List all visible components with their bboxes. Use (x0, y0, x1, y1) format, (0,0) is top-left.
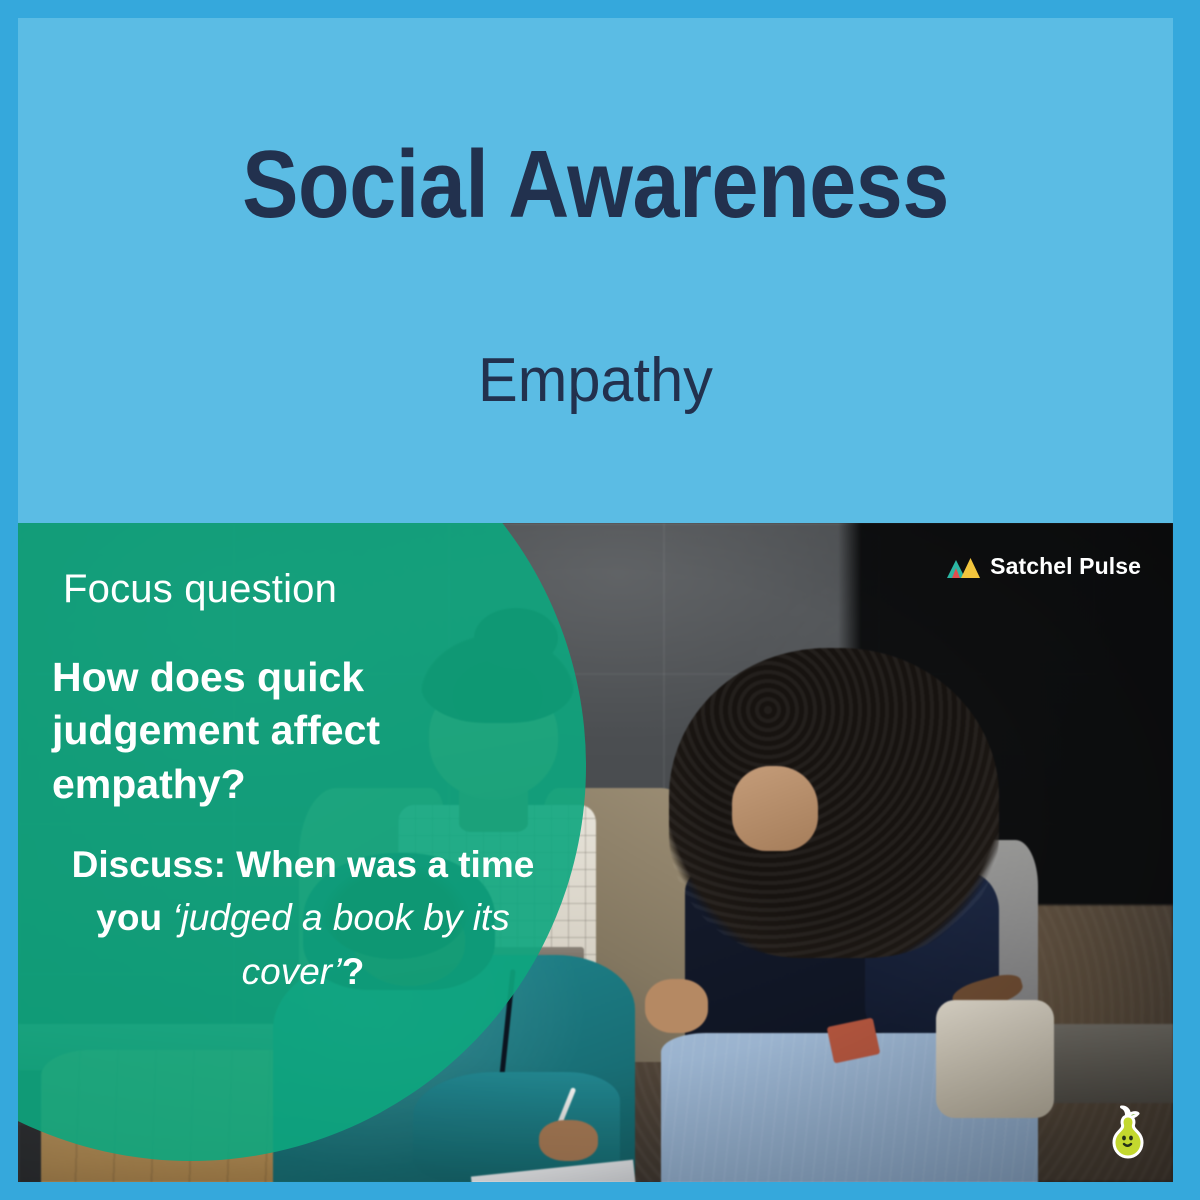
page-subtitle: Empathy (41, 348, 1150, 413)
satchel-pulse-logo: Satchel Pulse (947, 553, 1141, 580)
slide-canvas: Social Awareness Empathy (0, 0, 1200, 1200)
page-title: Social Awareness (87, 136, 1103, 234)
slide-inner-panel: Social Awareness Empathy (18, 18, 1173, 1182)
focus-question-text: How does quick judgement affect empathy? (52, 651, 512, 811)
discuss-prompt: Discuss: When was a time you ‘judged a b… (38, 838, 568, 998)
photo-panel: Focus question How does quick judgement … (18, 523, 1173, 1182)
discuss-question-mark: ? (342, 951, 365, 992)
satchel-pulse-wordmark: Satchel Pulse (990, 553, 1141, 580)
focus-question-label: Focus question (63, 567, 533, 611)
pear-icon (1105, 1104, 1151, 1160)
title-block: Social Awareness Empathy (18, 18, 1173, 523)
mountains-icon (947, 556, 981, 578)
